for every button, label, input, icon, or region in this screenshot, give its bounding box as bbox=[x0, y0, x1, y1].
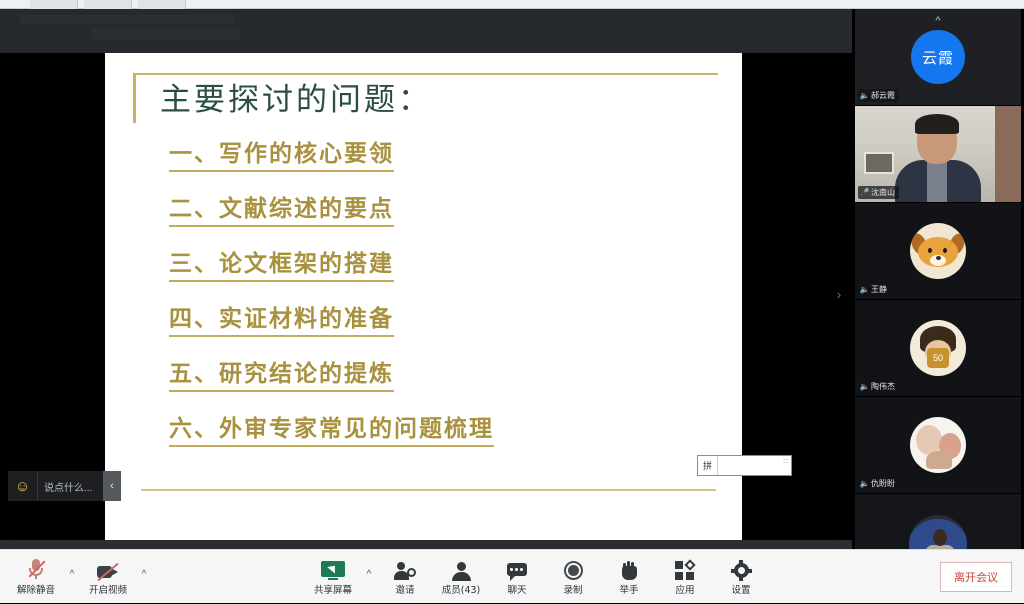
video-options-caret-icon[interactable]: ^ bbox=[136, 550, 152, 604]
participant-namebar: 🔈 陶伟杰 bbox=[858, 380, 899, 393]
settings-button[interactable]: 设置 bbox=[713, 550, 769, 604]
slide-list-item: 一、写作的核心要领 bbox=[169, 141, 394, 172]
participant-filmstrip[interactable]: ^ 云霞 🔈 郝云霞 🎤 沈南山 bbox=[852, 9, 1024, 603]
slide-list-item: 六、外审专家常见的问题梳理 bbox=[169, 416, 494, 447]
microphone-muted-icon: 🔈 bbox=[860, 285, 869, 294]
participants-icon bbox=[451, 558, 471, 580]
slide-list-item: 五、研究结论的提炼 bbox=[169, 361, 394, 392]
apps-label: 应用 bbox=[675, 582, 694, 596]
raise-hand-button[interactable]: 举手 bbox=[601, 550, 657, 604]
video-person-shirt bbox=[927, 162, 947, 202]
slide-bottom-rule bbox=[141, 489, 716, 491]
avatar-head bbox=[933, 529, 947, 546]
participant-namebar: 🔈 郝云霞 bbox=[858, 89, 899, 102]
microphone-muted-icon: 🔈 bbox=[860, 479, 869, 488]
microphone-muted-icon bbox=[28, 558, 44, 580]
participant-namebar: 🔈 王静 bbox=[858, 283, 891, 296]
smiley-icon[interactable]: ☺ bbox=[8, 471, 38, 501]
video-bg-door bbox=[995, 106, 1021, 202]
avatar-shape-c bbox=[926, 451, 952, 469]
shared-screen-stage[interactable]: 主要探讨的问题： 一、写作的核心要领 二、文献综述的要点 三、论文框架的搭建 四… bbox=[0, 9, 852, 549]
microphone-muted-icon: 🔈 bbox=[860, 382, 869, 391]
slide-title: 主要探讨的问题： bbox=[160, 78, 432, 122]
raise-hand-icon bbox=[621, 558, 638, 580]
unmute-button[interactable]: 解除静音 bbox=[8, 550, 64, 604]
avatar: 云霞 bbox=[911, 30, 965, 84]
share-options-caret-icon[interactable]: ^ bbox=[361, 550, 377, 604]
chevron-left-icon[interactable]: ‹ bbox=[103, 471, 121, 501]
quick-chat-input[interactable]: 说点什么... bbox=[38, 471, 103, 501]
participant-name: 陶伟杰 bbox=[871, 381, 895, 392]
shared-window-toolbar-ghost bbox=[92, 28, 240, 39]
avatar-eye-left bbox=[928, 248, 932, 253]
start-video-button[interactable]: 开启视频 bbox=[80, 550, 136, 604]
chat-button[interactable]: 聊天 bbox=[489, 550, 545, 604]
participant-tile[interactable]: ^ 云霞 🔈 郝云霞 bbox=[855, 9, 1021, 105]
slide-outline-list: 一、写作的核心要领 二、文献综述的要点 三、论文框架的搭建 四、实证材料的准备 … bbox=[169, 141, 719, 471]
invite-label: 邀请 bbox=[395, 582, 414, 596]
slide-list-row: 一、写作的核心要领 bbox=[169, 141, 719, 196]
shared-app-window-strip bbox=[0, 9, 852, 53]
participant-namebar: 🔈 仇盼盼 bbox=[858, 477, 899, 490]
participant-name: 仇盼盼 bbox=[871, 478, 895, 489]
window-chrome-strip bbox=[0, 0, 1024, 9]
record-label: 录制 bbox=[563, 582, 582, 596]
slide-list-row: 五、研究结论的提炼 bbox=[169, 361, 719, 416]
settings-label: 设置 bbox=[731, 582, 750, 596]
participant-name: 郝云霞 bbox=[871, 90, 895, 101]
chat-label: 聊天 bbox=[507, 582, 526, 596]
slide-list-row: 三、论文框架的搭建 bbox=[169, 251, 719, 306]
slide-list-item: 二、文献综述的要点 bbox=[169, 196, 394, 227]
avatar-nose bbox=[936, 256, 941, 260]
avatar-eye-right bbox=[943, 248, 947, 253]
slide-list-row: 二、文献综述的要点 bbox=[169, 196, 719, 251]
ime-candidate-box[interactable]: 拼 :: bbox=[697, 455, 792, 476]
participant-tile[interactable]: 🎤 沈南山 bbox=[855, 106, 1021, 202]
slide-top-rule bbox=[133, 73, 718, 75]
invite-button[interactable]: 邀请 bbox=[377, 550, 433, 604]
record-button[interactable]: 录制 bbox=[545, 550, 601, 604]
share-screen-label: 共享屏幕 bbox=[314, 582, 352, 596]
microphone-icon: 🎤 bbox=[860, 188, 869, 197]
participant-name: 王静 bbox=[871, 284, 887, 295]
share-screen-button[interactable]: 共享屏幕 bbox=[305, 550, 361, 604]
leave-meeting-button[interactable]: 离开会议 bbox=[940, 562, 1012, 592]
browser-tab-2[interactable] bbox=[84, 0, 132, 9]
participant-name: 沈南山 bbox=[871, 187, 895, 198]
video-off-icon bbox=[97, 558, 119, 580]
audio-options-caret-icon[interactable]: ^ bbox=[64, 550, 80, 604]
chevron-right-icon[interactable]: › bbox=[832, 281, 846, 307]
participants-label: 成员(43) bbox=[442, 582, 481, 596]
unmute-label: 解除静音 bbox=[17, 582, 55, 596]
slide-list-row: 六、外审专家常见的问题梳理 bbox=[169, 416, 719, 471]
toolbar-center-group: 共享屏幕 ^ 邀请 成员(43) 聊天 录制 bbox=[305, 550, 769, 604]
participants-button[interactable]: 成员(43) bbox=[433, 550, 489, 604]
avatar bbox=[910, 417, 966, 473]
stage-bottom-edge: ◦ ◦ bbox=[0, 540, 852, 549]
participant-namebar: 🎤 沈南山 bbox=[858, 186, 899, 199]
quick-chat-bar[interactable]: ☺ 说点什么... ‹ bbox=[8, 471, 121, 501]
share-screen-icon bbox=[321, 558, 345, 580]
participant-tile[interactable]: 50 🔈 陶伟杰 bbox=[855, 300, 1021, 396]
participant-tile[interactable]: 🔈 仇盼盼 bbox=[855, 397, 1021, 493]
video-bg-picture-frame bbox=[864, 152, 894, 174]
microphone-muted-icon: 🔈 bbox=[860, 91, 869, 100]
ime-mode-icon[interactable]: 拼 bbox=[698, 456, 718, 475]
presentation-slide: 主要探讨的问题： 一、写作的核心要领 二、文献综述的要点 三、论文框架的搭建 四… bbox=[105, 53, 742, 540]
toolbar-left-group: 解除静音 ^ 开启视频 ^ bbox=[8, 550, 152, 604]
slide-list-item: 三、论文框架的搭建 bbox=[169, 251, 394, 282]
shared-window-titlebar-ghost bbox=[20, 15, 235, 24]
resize-handle-right: ◦ bbox=[838, 542, 842, 546]
browser-tab-1[interactable] bbox=[30, 0, 78, 9]
browser-tab-3[interactable] bbox=[138, 0, 186, 9]
avatar: 50 bbox=[910, 320, 966, 376]
resize-handle-left: ◦ bbox=[10, 542, 14, 546]
start-video-label: 开启视频 bbox=[89, 582, 127, 596]
invite-person-icon bbox=[394, 558, 416, 580]
chevron-up-icon[interactable]: ^ bbox=[935, 15, 940, 27]
raise-hand-label: 举手 bbox=[619, 582, 638, 596]
ime-resize-icon: :: bbox=[783, 459, 789, 465]
slide-list-item: 四、实证材料的准备 bbox=[169, 306, 394, 337]
chat-bubble-icon bbox=[507, 558, 527, 580]
meeting-toolbar: 解除静音 ^ 开启视频 ^ 共享屏幕 ^ 邀请 bbox=[0, 549, 1024, 603]
avatar-badge: 50 bbox=[927, 348, 949, 368]
slide-list-row: 四、实证材料的准备 bbox=[169, 306, 719, 361]
apps-grid-icon bbox=[675, 558, 695, 580]
slide-title-accent-bar bbox=[133, 75, 136, 123]
apps-button[interactable]: 应用 bbox=[657, 550, 713, 604]
record-icon bbox=[564, 558, 583, 580]
participant-tile[interactable]: 🔈 王静 bbox=[855, 203, 1021, 299]
video-person-hair bbox=[915, 114, 959, 134]
gear-icon bbox=[732, 558, 751, 580]
toolbar-right-group: 离开会议 bbox=[940, 550, 1012, 604]
avatar bbox=[910, 223, 966, 279]
